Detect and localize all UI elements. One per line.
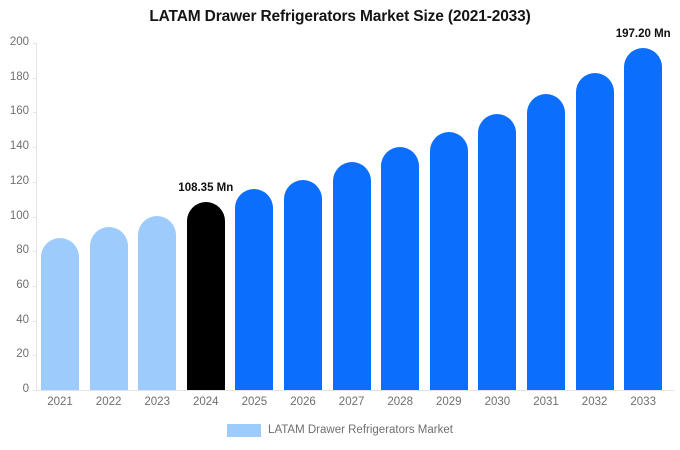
y-tick-mark [33, 182, 36, 183]
y-tick-mark [33, 286, 36, 287]
y-tick-label: 60 [0, 280, 29, 292]
y-tick-label: 40 [0, 315, 29, 327]
legend-item[interactable]: LATAM Drawer Refrigerators Market [227, 424, 453, 437]
bar-2027[interactable] [333, 162, 371, 390]
bar-2032[interactable] [576, 73, 614, 390]
plot-area: 020406080100120140160180200 108.35 Mn197… [0, 0, 680, 450]
y-tick-label: 0 [0, 384, 29, 396]
chart-legend: LATAM Drawer Refrigerators Market [0, 424, 680, 437]
y-tick-label: 120 [0, 176, 29, 188]
x-axis-line [36, 390, 674, 391]
y-tick-mark [33, 112, 36, 113]
y-tick-label: 20 [0, 349, 29, 361]
y-tick-mark [33, 321, 36, 322]
bar-2029[interactable] [430, 132, 468, 390]
x-tick-label-2033: 2033 [613, 397, 673, 409]
bar-2024[interactable] [187, 202, 225, 390]
bar-2026[interactable] [284, 180, 322, 390]
bar-2025[interactable] [235, 189, 273, 390]
bar-2028[interactable] [381, 147, 419, 390]
bar-2033[interactable] [624, 48, 662, 390]
y-tick-label: 80 [0, 245, 29, 257]
y-tick-mark [33, 217, 36, 218]
chart-container: LATAM Drawer Refrigerators Market Size (… [0, 0, 680, 450]
bar-annotation-2033: 197.20 Mn [616, 28, 671, 40]
bar-2023[interactable] [138, 216, 176, 390]
legend-swatch-icon [227, 424, 261, 437]
y-tick-label: 100 [0, 211, 29, 223]
bar-annotation-2024: 108.35 Mn [178, 182, 233, 194]
y-tick-mark [33, 355, 36, 356]
y-tick-mark [33, 78, 36, 79]
bar-2022[interactable] [90, 227, 128, 390]
y-tick-mark [33, 390, 36, 391]
legend-item-label: LATAM Drawer Refrigerators Market [268, 425, 453, 437]
y-tick-label: 180 [0, 72, 29, 84]
y-tick-mark [33, 147, 36, 148]
y-tick-mark [33, 251, 36, 252]
bar-2021[interactable] [41, 238, 79, 390]
bar-2031[interactable] [527, 94, 565, 390]
y-tick-mark [33, 43, 36, 44]
y-axis-line [36, 43, 37, 390]
bar-2030[interactable] [478, 114, 516, 390]
y-tick-label: 140 [0, 141, 29, 153]
y-tick-label: 160 [0, 106, 29, 118]
y-tick-label: 200 [0, 37, 29, 49]
